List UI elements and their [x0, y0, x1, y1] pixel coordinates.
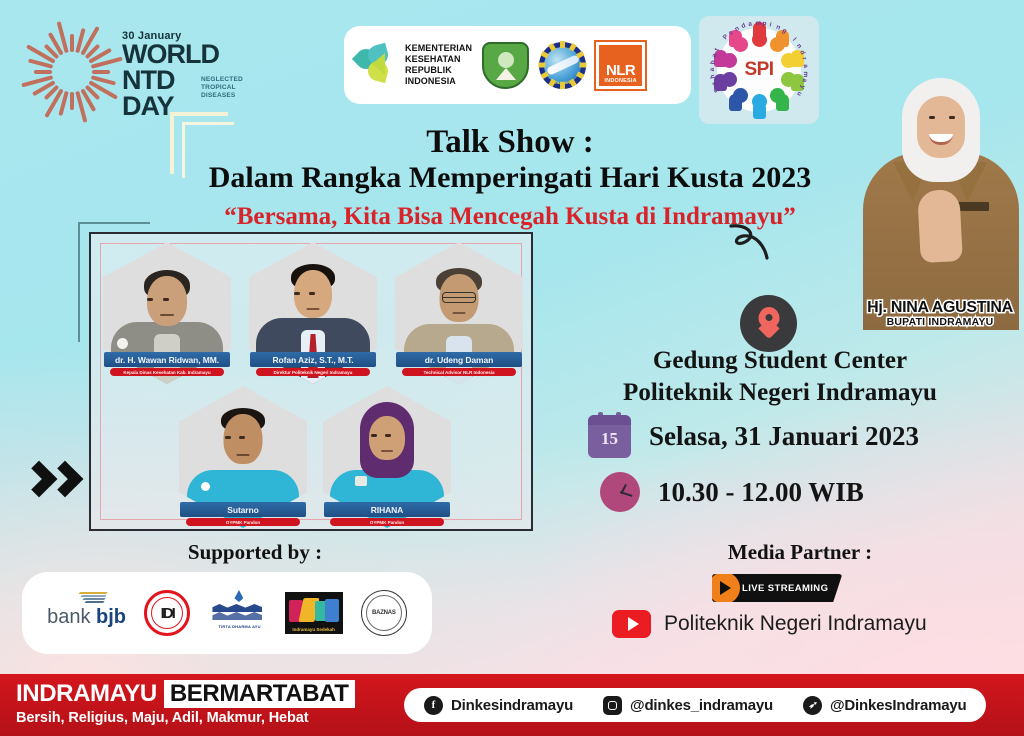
polindra-logo-icon: POLINDRA: [539, 42, 586, 89]
water-drop-icon: [234, 590, 243, 602]
bupati-hands: [917, 189, 963, 263]
speakers-row-bottom: Sutarno OYPMK Pandon: [175, 386, 455, 528]
sponsor-logo-bar: bank bjb IDI TIRTA DHARMA AYU Indramayu …: [22, 572, 432, 654]
baz-caption: Indramayu Sedekah: [285, 627, 343, 632]
clock-icon: [600, 472, 640, 512]
poster-title-block: Talk Show : Dalam Rangka Memperingati Ha…: [150, 124, 870, 231]
instagram-icon[interactable]: [603, 696, 622, 715]
speakers-row-top: dr. H. Wawan Ridwan, MM. Kepala Dinas Ke…: [99, 242, 527, 384]
spi-acronym: SPI: [744, 59, 773, 81]
speaker-card: RIHANA OYPMK Pandon: [319, 386, 455, 528]
calendar-day-number: 15: [588, 429, 631, 449]
supported-by-label: Supported by :: [60, 540, 450, 565]
bupati-portrait: Hj. NINA AGUSTINA BUPATI INDRAMAYU: [855, 62, 1024, 330]
live-streaming-text: LIVE STREAMING: [742, 583, 828, 594]
spi-logo-card: Sahabat Pendamping Indramayu SPI: [699, 16, 819, 124]
indramayu-regency-seal-icon: [482, 42, 529, 89]
ntd-wordmark: 30 January WORLD NTD DAY NEGLECTED TROPI…: [122, 30, 219, 120]
venue-block: Gedung Student Center Politeknik Negeri …: [560, 345, 1000, 408]
double-chevron-icon: [26, 460, 92, 516]
live-streaming-badge: LIVE STREAMING: [712, 574, 842, 602]
venue-line-2: Politeknik Negeri Indramayu: [560, 377, 1000, 409]
social-twitter[interactable]: ➶ @DinkesIndramayu: [803, 696, 966, 715]
event-date: Selasa, 31 Januari 2023: [649, 421, 919, 452]
footer-slogan-bermartabat: BERMARTABAT: [164, 680, 355, 708]
nlr-indonesia-logo: NLR INDONESIA: [596, 42, 645, 89]
nlr-subtitle: INDONESIA: [604, 78, 636, 84]
calendar-icon: 15: [588, 415, 631, 458]
bupati-title: BUPATI INDRAMAYU: [847, 317, 1024, 328]
event-time: 10.30 - 12.00 WIB: [658, 477, 864, 508]
speaker-name: Sutarno: [180, 502, 306, 517]
youtube-icon[interactable]: [612, 610, 651, 638]
speaker-card: dr. Udeng Daman Technical Advisor NLR In…: [391, 242, 527, 384]
speaker-name: dr. Udeng Daman: [396, 352, 522, 367]
bjb-word-bank: bank: [47, 606, 90, 628]
bjb-word-bjb: bjb: [96, 606, 126, 628]
speaker-nameplate: RIHANA OYPMK Pandon: [324, 502, 450, 526]
sponsor-baz-logo: Indramayu Sedekah: [285, 592, 343, 634]
social-instagram[interactable]: @dinkes_indramayu: [603, 696, 773, 715]
speaker-role: OYPMK Pandon: [186, 518, 299, 526]
bupati-face: [917, 96, 965, 158]
speaker-card: Sutarno OYPMK Pandon: [175, 386, 311, 528]
social-facebook[interactable]: f Dinkesindramayu: [424, 696, 573, 715]
speaker-nameplate: dr. H. Wawan Ridwan, MM. Kepala Dinas Ke…: [104, 352, 230, 376]
venue-line-1: Gedung Student Center: [560, 345, 1000, 377]
sunburst-icon: [26, 26, 118, 118]
event-date-row: 15 Selasa, 31 Januari 2023: [588, 415, 919, 458]
bjb-swoosh-icon: [79, 592, 111, 604]
facebook-handle: Dinkesindramayu: [451, 697, 573, 714]
footer-tagline: Bersih, Religius, Maju, Adil, Makmur, He…: [16, 710, 355, 726]
speakers-panel: dr. H. Wawan Ridwan, MM. Kepala Dinas Ke…: [89, 232, 533, 531]
play-button-icon: [708, 572, 740, 604]
speaker-nameplate: Sutarno OYPMK Pandon: [180, 502, 306, 526]
title-tagline: “Bersama, Kita Bisa Mencegah Kusta di In…: [150, 203, 870, 231]
footer-bar: INDRAMAYU BERMARTABAT Bersih, Religius, …: [0, 674, 1024, 736]
speaker-card: dr. H. Wawan Ridwan, MM. Kepala Dinas Ke…: [99, 242, 235, 384]
sponsor-bank-bjb-logo: bank bjb: [47, 597, 126, 629]
bupati-name: Hj. NINA AGUSTINA: [847, 300, 1024, 317]
kemenkes-logo: KEMENTERIAN KESEHATAN REPUBLIK INDONESIA: [356, 43, 472, 87]
speaker-name: Rofan Aziz, S.T., M.T.: [250, 352, 376, 367]
bupati-name-banner: Hj. NINA AGUSTINA BUPATI INDRAMAYU: [847, 300, 1024, 328]
event-time-row: 10.30 - 12.00 WIB: [600, 472, 864, 512]
facebook-icon[interactable]: f: [424, 696, 443, 715]
twitter-icon[interactable]: ➶: [803, 696, 822, 715]
pdam-caption: TIRTA DHARMA AYU: [218, 624, 260, 629]
youtube-channel-name: Politeknik Negeri Indramayu: [664, 612, 927, 636]
idi-monogram: IDI: [161, 605, 174, 622]
speaker-role: Technical Advisor NLR Indonesia: [402, 368, 515, 376]
twitter-handle: @DinkesIndramayu: [830, 697, 966, 714]
youtube-channel-row[interactable]: Politeknik Negeri Indramayu: [612, 610, 927, 638]
kemenkes-label: KEMENTERIAN KESEHATAN REPUBLIK INDONESIA: [405, 43, 472, 87]
speaker-nameplate: Rofan Aziz, S.T., M.T. Direktur Politekn…: [250, 352, 376, 376]
speaker-role: OYPMK Pandon: [330, 518, 443, 526]
event-poster: 30 January WORLD NTD DAY NEGLECTED TROPI…: [0, 0, 1024, 736]
baznas-monogram: BAZNAS: [372, 610, 396, 616]
speaker-nameplate: dr. Udeng Daman Technical Advisor NLR In…: [396, 352, 522, 376]
footer-slogan-indramayu: INDRAMAYU: [16, 680, 157, 708]
world-ntd-day-logo: 30 January WORLD NTD DAY NEGLECTED TROPI…: [18, 18, 248, 126]
social-handles-bar: f Dinkesindramayu @dinkes_indramayu ➶ @D…: [404, 688, 986, 722]
ministry-logo-card: KEMENTERIAN KESEHATAN REPUBLIK INDONESIA…: [344, 26, 691, 104]
speaker-name: dr. H. Wawan Ridwan, MM.: [104, 352, 230, 367]
nlr-title: NLR: [606, 63, 635, 78]
footer-slogan-block: INDRAMAYU BERMARTABAT Bersih, Religius, …: [16, 680, 355, 726]
instagram-handle: @dinkes_indramayu: [630, 697, 773, 714]
spi-logo: Sahabat Pendamping Indramayu SPI: [699, 16, 819, 124]
kemenkes-mark-icon: [356, 45, 398, 85]
speaker-card: Rofan Aziz, S.T., M.T. Direktur Politekn…: [245, 242, 381, 384]
speaker-role: Kepala Dinas Kesehatan Kab. Indramayu: [110, 368, 223, 376]
title-line-2: Dalam Rangka Memperingati Hari Kusta 202…: [150, 161, 870, 196]
speaker-role: Direktur Politeknik Negeri Indramayu: [256, 368, 369, 376]
sponsor-baznas-logo: BAZNAS: [361, 590, 407, 636]
location-pin-icon: [740, 295, 797, 352]
sponsor-pdam-tirta-dharma-ayu-logo: TIRTA DHARMA AYU: [208, 590, 266, 636]
sponsor-idi-logo: IDI: [144, 590, 190, 636]
speaker-name: RIHANA: [324, 502, 450, 517]
ntd-expansion-label: NEGLECTED TROPICAL DISEASES: [201, 76, 243, 100]
media-partner-label: Media Partner :: [600, 540, 1000, 565]
title-line-1: Talk Show :: [150, 124, 870, 160]
